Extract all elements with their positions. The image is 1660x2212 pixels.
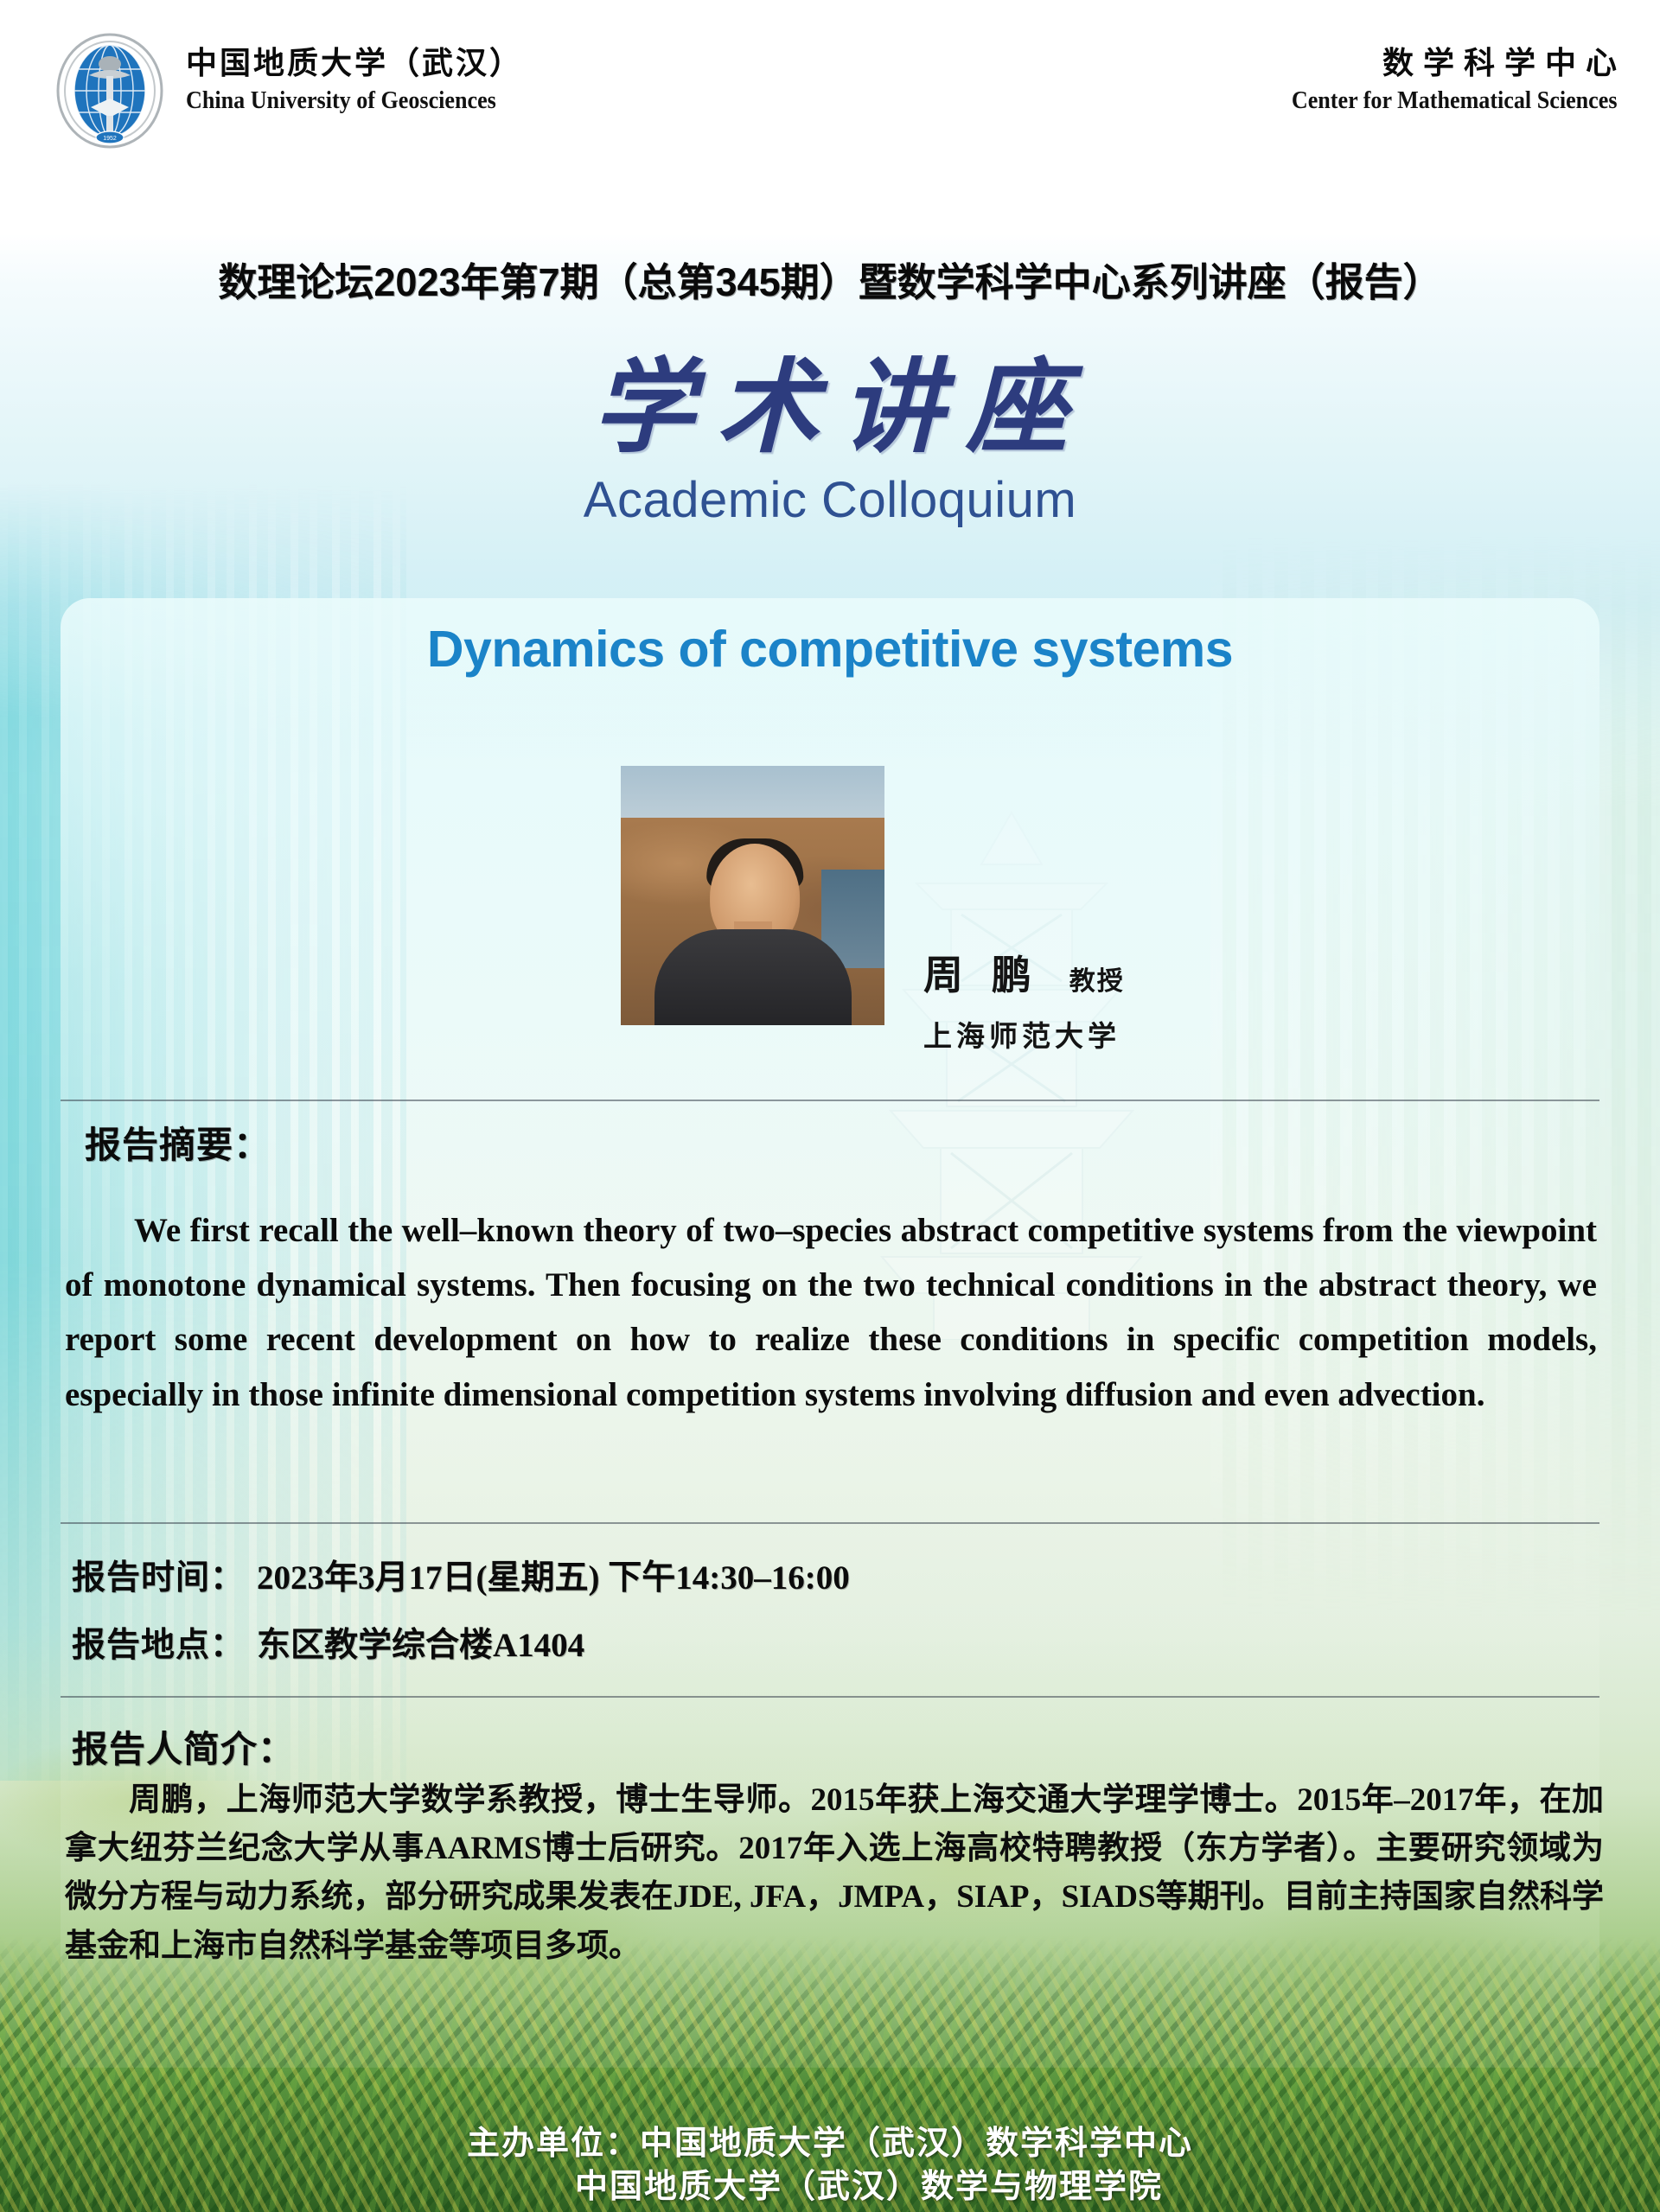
portrait-body	[654, 929, 852, 1025]
banner-block: 学术讲座 Academic Colloquium	[0, 350, 1660, 529]
footer-line-1: 主办单位：中国地质大学（武汉）数学科学中心	[0, 2122, 1660, 2165]
speaker-portrait-photo	[621, 766, 884, 1025]
place-line: 报告地点：东区教学综合楼A1404	[72, 1618, 584, 1667]
org-left-block: 中国地质大学（武汉） China University of Geoscienc…	[186, 45, 531, 115]
bio-body: 周鹏，上海师范大学数学系教授，博士生导师。2015年获上海交通大学理学博士。20…	[65, 1776, 1604, 1971]
university-seal-icon: 1952	[54, 33, 165, 149]
place-value: 东区教学综合楼A1404	[257, 1627, 584, 1664]
divider-below-abstract	[61, 1522, 1599, 1524]
time-label: 报告时间：	[72, 1559, 245, 1597]
abstract-heading: 报告摘要：	[85, 1116, 271, 1169]
place-label: 报告地点：	[72, 1627, 245, 1664]
org-right-name-en: Center for Mathematical Sciences	[1291, 86, 1617, 115]
divider-above-abstract	[61, 1100, 1599, 1101]
bio-heading: 报告人简介：	[72, 1720, 295, 1773]
org-right-block: 数学科学中心 Center for Mathematical Sciences	[1255, 45, 1618, 115]
footer-line-2: 中国地质大学（武汉）数学与物理学院	[78, 2165, 1660, 2209]
series-line: 数理论坛2023年第7期（总第345期）暨数学科学中心系列讲座（报告）	[0, 251, 1660, 307]
svg-text:1952: 1952	[103, 136, 117, 142]
speaker-affiliation: 上海师范大学	[923, 1013, 1125, 1055]
time-line: 报告时间：2023年3月17日(星期五) 下午14:30–16:00	[72, 1551, 850, 1599]
org-left-name-cn: 中国地质大学（武汉）	[186, 45, 531, 81]
abstract-body: We first recall the well–known theory of…	[65, 1203, 1597, 1422]
poster-header: 1952 中国地质大学（武汉） China University of Geos…	[0, 0, 1660, 235]
lecture-title: Dynamics of competitive systems	[0, 620, 1660, 679]
org-right-name-cn: 数学科学中心	[1255, 45, 1627, 81]
speaker-name: 周 鹏	[923, 944, 1040, 1001]
speaker-rank: 教授	[1069, 959, 1125, 1001]
banner-calligraphy-cn: 学术讲座	[22, 350, 1660, 468]
poster-footer: 主办单位：中国地质大学（武汉）数学科学中心 中国地质大学（武汉）数学与物理学院	[0, 2122, 1660, 2209]
banner-calligraphy-en: Academic Colloquium	[0, 471, 1660, 529]
time-value: 2023年3月17日(星期五) 下午14:30–16:00	[257, 1559, 850, 1597]
org-left-name-en: China University of Geosciences	[186, 86, 496, 115]
speaker-info: 周 鹏教授 上海师范大学	[923, 944, 1125, 1055]
divider-above-bio	[61, 1696, 1599, 1698]
poster-root: 1952 中国地质大学（武汉） China University of Geos…	[0, 0, 1660, 2212]
